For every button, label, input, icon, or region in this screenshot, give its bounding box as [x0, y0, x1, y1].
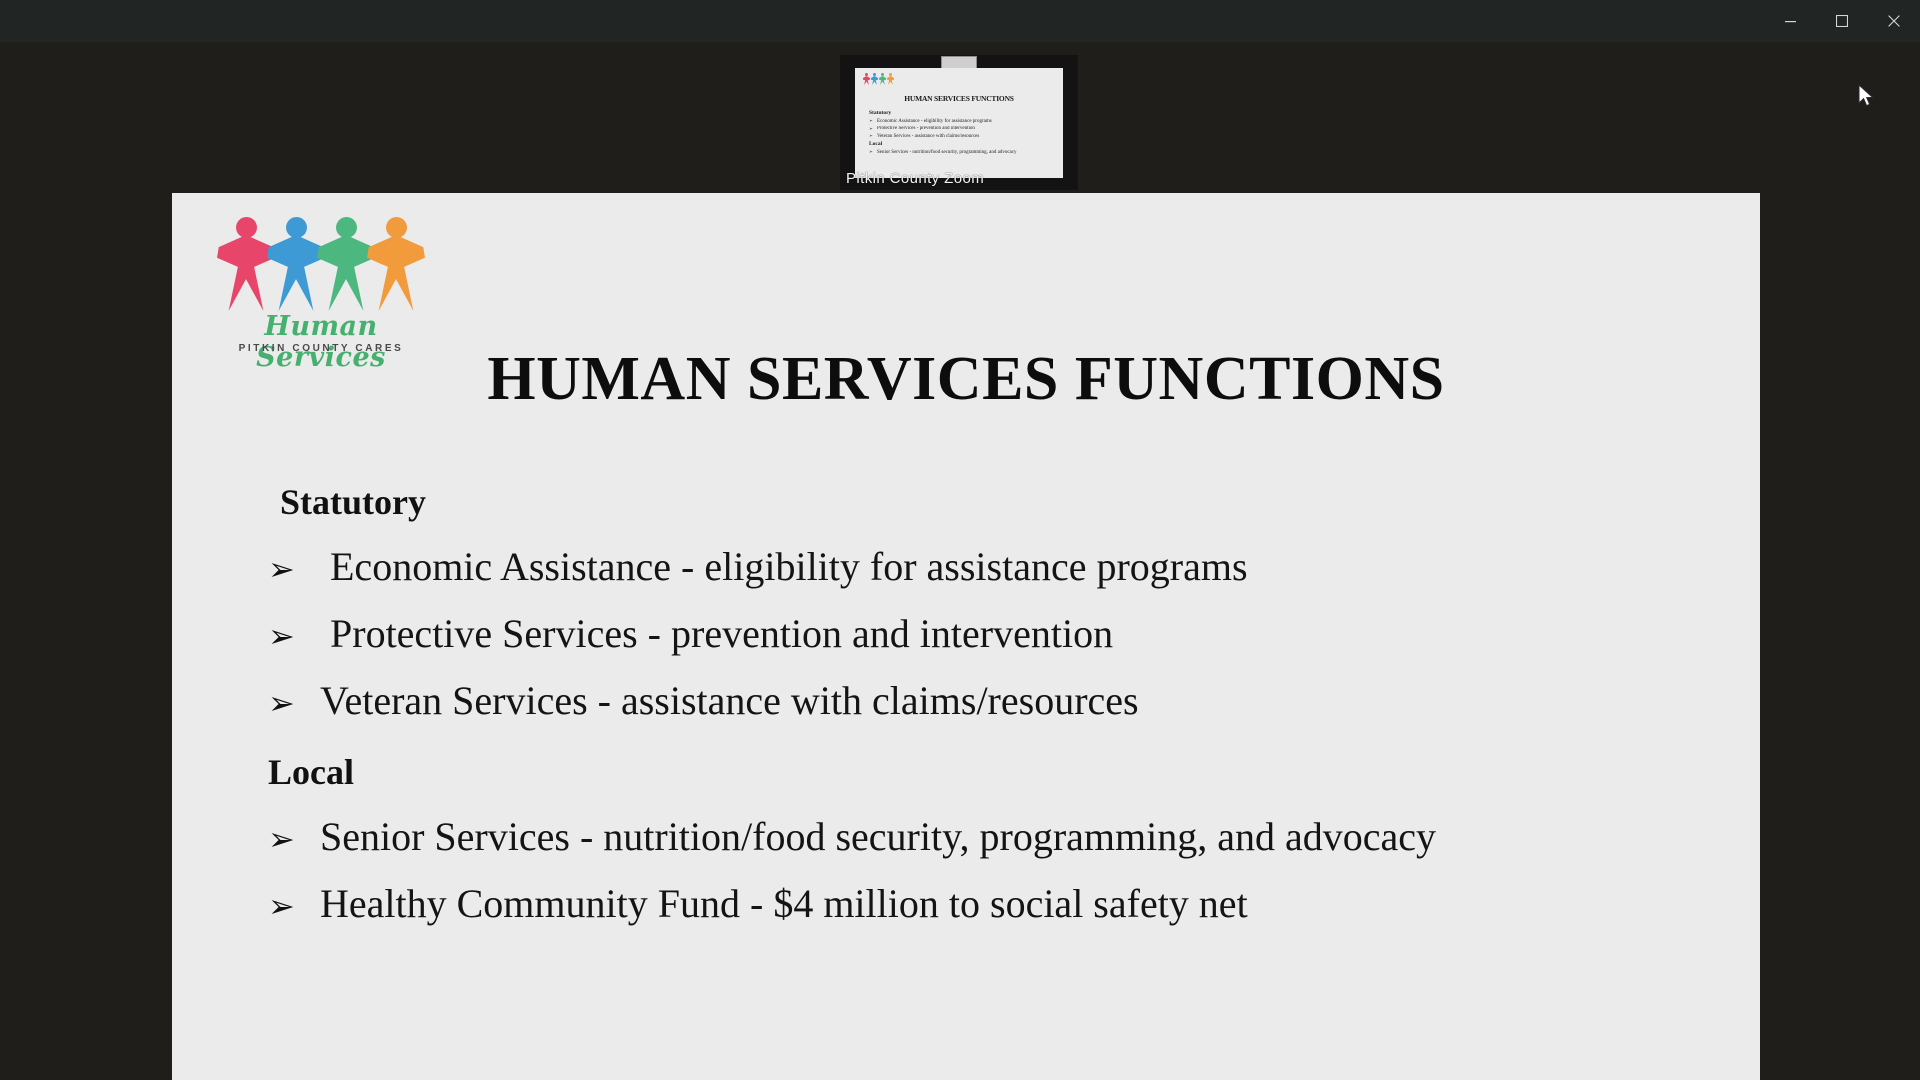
maximize-button[interactable]: [1816, 0, 1868, 42]
window-controls: [1764, 0, 1920, 42]
preview-taskbar-label: Pitkin County Zoom: [840, 170, 984, 187]
bullet-arrow-icon: ➢: [268, 620, 320, 652]
bullet-arrow-icon: ➢: [268, 890, 320, 922]
presentation-slide: Human Services PITKIN COUNTY CARES HUMAN…: [172, 193, 1760, 1080]
bullet-text: Healthy Community Fund - $4 million to s…: [320, 882, 1720, 927]
logo-figure-4: [887, 73, 894, 85]
logo-figure-orange: [367, 215, 425, 313]
bullet-text: Veteran Services - assistance with claim…: [320, 679, 1720, 724]
screen: Statutory HUMAN SERVICES FUNCTIONS Statu…: [0, 0, 1920, 1080]
preview-bullet: Economic Assistance - eligibility for as…: [869, 119, 1055, 124]
preview-taskbar: Pitkin County Zoom: [840, 166, 1078, 190]
preview-section-heading-statutory: Statutory: [869, 110, 1055, 116]
bullet-arrow-icon: ➢: [268, 553, 320, 585]
logo-figure-1: [863, 73, 870, 85]
preview-slide: Statutory HUMAN SERVICES FUNCTIONS Statu…: [855, 68, 1063, 178]
minimize-icon: [1785, 16, 1796, 27]
preview-logo-figures: [863, 73, 897, 85]
window-titlebar: [0, 0, 1920, 42]
presentation-preview-window[interactable]: Statutory HUMAN SERVICES FUNCTIONS Statu…: [840, 55, 1078, 190]
preview-slide-title: HUMAN SERVICES FUNCTIONS: [855, 94, 1063, 103]
minimize-button[interactable]: [1764, 0, 1816, 42]
bullet-item: ➢ Healthy Community Fund - $4 million to…: [268, 882, 1720, 927]
restore-icon: [1836, 15, 1848, 27]
preview-bullet: Protective Services - prevention and int…: [869, 126, 1055, 131]
slide-content: Statutory ➢ Economic Assistance - eligib…: [268, 481, 1720, 949]
slide-title: HUMAN SERVICES FUNCTIONS: [172, 344, 1760, 415]
preview-bullet: Senior Services - nutrition/food securit…: [869, 150, 1055, 155]
preview-section-heading-local: Local: [869, 141, 1055, 147]
bullet-text: Protective Services - prevention and int…: [320, 612, 1720, 657]
logo-figure-2: [871, 73, 878, 85]
logo-figures: [210, 215, 432, 315]
human-services-logo: Human Services PITKIN COUNTY CARES: [210, 215, 432, 365]
bullet-text: Economic Assistance - eligibility for as…: [320, 545, 1720, 590]
section-heading-local: Local: [268, 751, 1720, 793]
logo-figure-3: [879, 73, 886, 85]
bullet-arrow-icon: ➢: [268, 687, 320, 719]
close-icon: [1888, 15, 1900, 27]
bullet-item: ➢ Economic Assistance - eligibility for …: [268, 545, 1720, 590]
bullet-arrow-icon: ➢: [268, 823, 320, 855]
bullet-item: ➢ Veteran Services - assistance with cla…: [268, 679, 1720, 724]
bullet-text: Senior Services - nutrition/food securit…: [320, 815, 1720, 860]
preview-bullet: Veteran Services - assistance with claim…: [869, 134, 1055, 139]
preview-slide-body: Statutory Economic Assistance - eligibil…: [869, 110, 1055, 157]
section-heading-statutory: Statutory: [268, 481, 1720, 523]
preview-logo: Statutory: [863, 73, 897, 91]
bullet-item: ➢ Protective Services - prevention and i…: [268, 612, 1720, 657]
close-button[interactable]: [1868, 0, 1920, 42]
bullet-item: ➢ Senior Services - nutrition/food secur…: [268, 815, 1720, 860]
